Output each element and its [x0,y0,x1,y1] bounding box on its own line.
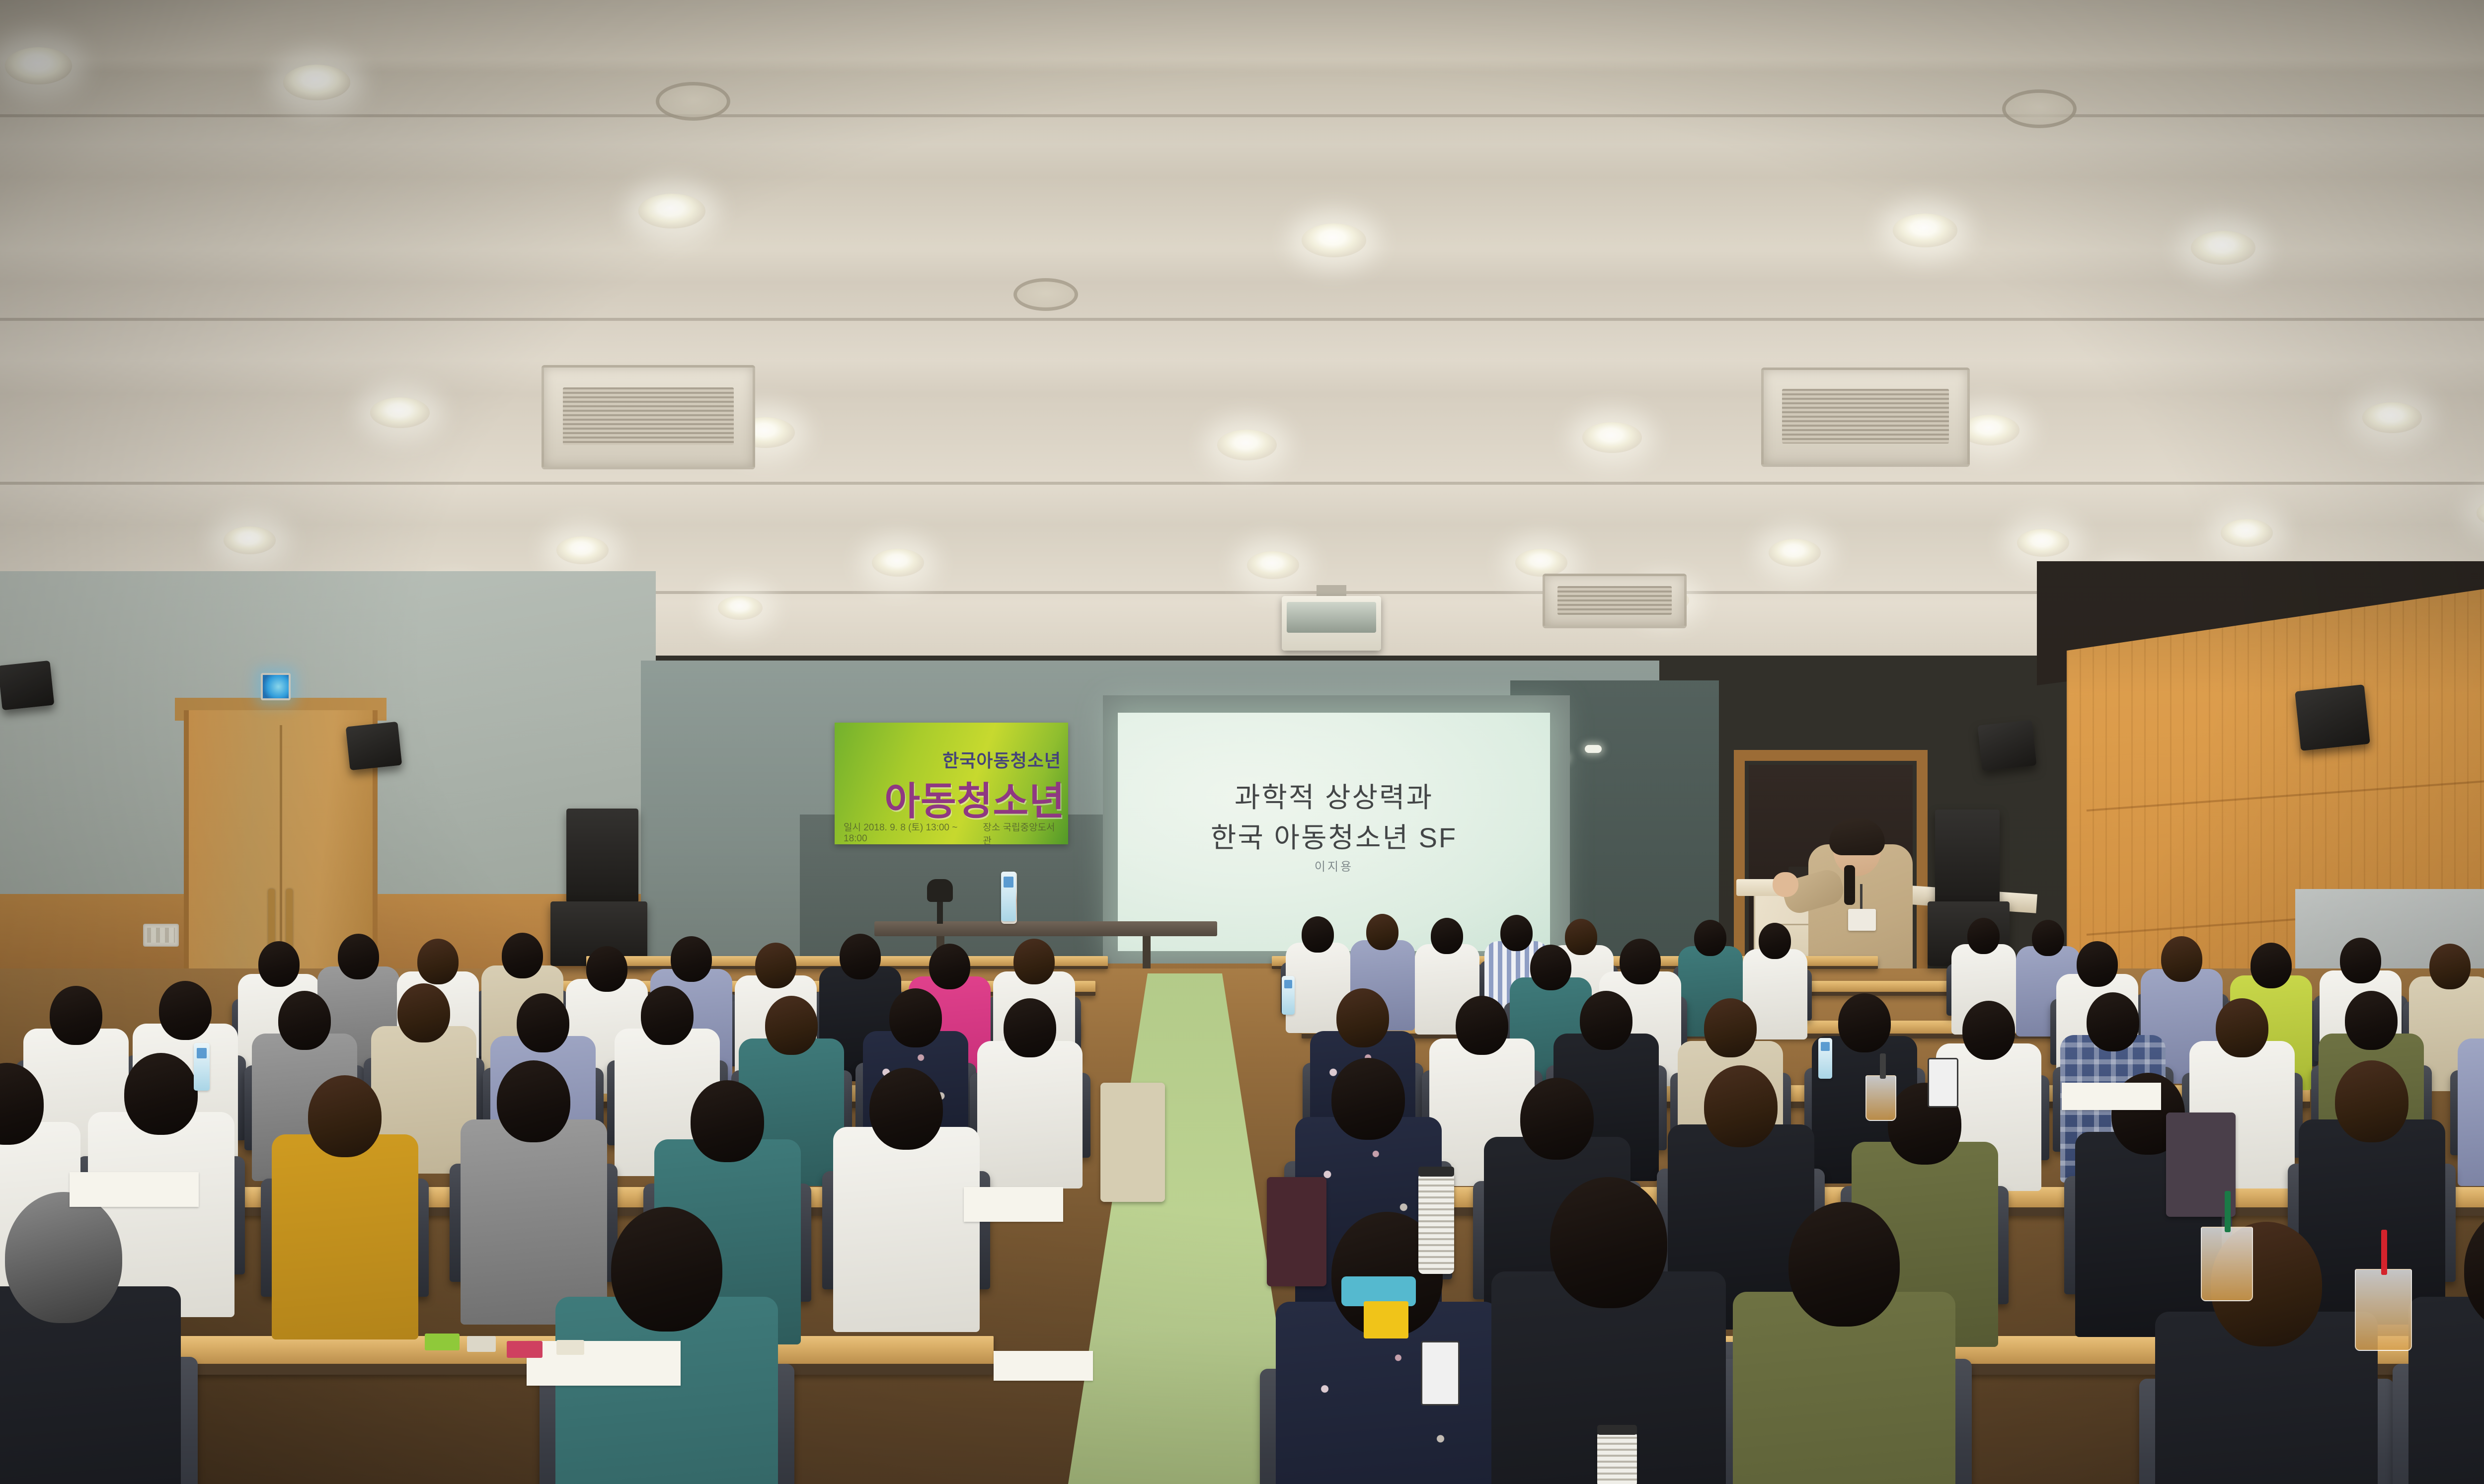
person-head [641,986,694,1045]
water-bottle [1818,1038,1832,1079]
ceiling-seam [0,482,2484,485]
paper-handout [964,1187,1063,1222]
event-banner: 한국아동청소년 아동청소년 일시 2018. 9. 8 (토) 13:00 ~ … [835,723,1068,844]
ceiling-seam [0,318,2484,321]
banner-footer-right: 장소 국립중앙도서관 [983,820,1063,844]
person-head [2087,992,2139,1051]
iced-drink-cup [2201,1227,2253,1301]
yellow-box [1364,1301,1408,1338]
ceiling-projector [1282,596,1381,651]
presenter-hair [1829,818,1885,855]
person-head [1302,916,1334,953]
person-torso [2458,1039,2484,1186]
person-head [2340,938,2381,983]
ceiling-downlight [1247,551,1299,579]
banner-footer-left: 일시 2018. 9. 8 (토) 13:00 ~ 18:00 [844,820,983,844]
presenter-lanyard [1860,884,1863,912]
person-head [869,1068,943,1150]
person-head [1694,920,1726,956]
ceiling-ring-fixture [2002,89,2077,128]
person-head [611,1207,722,1332]
stage-speaker [1935,810,2000,909]
ceiling [0,0,2484,656]
ac-vent [542,365,755,469]
ceiling-downlight [2017,529,2069,557]
person-head [1962,1001,2015,1060]
person-head [1013,939,1055,984]
ac-vent [1761,368,1970,467]
ceiling-downlight [224,526,276,554]
person-head [417,939,459,984]
person-head [671,936,712,982]
person-head [1366,914,1398,950]
person-head [1580,991,1632,1050]
ceiling-downlight [2191,231,2255,265]
person-head [2251,943,2292,988]
person-head [755,943,796,988]
person-head [1336,988,1389,1047]
person-head [840,934,881,979]
person-torso [833,1127,980,1332]
ceiling-downlight [1217,430,1277,460]
ceiling-downlight [1893,214,1957,247]
handbag [1100,1083,1165,1202]
person-head [1431,918,1463,954]
handbag [1267,1177,1326,1286]
person-head [2345,991,2398,1050]
paper-handout [70,1172,199,1207]
banner-small-text: 한국아동청소년 [835,746,1061,772]
person-head [517,993,569,1052]
person-head [1704,1065,1778,1147]
person-head [124,1053,198,1135]
wall-speaker [1977,720,2036,771]
person-head [2335,1060,2408,1142]
drink-straw [1880,1053,1886,1079]
ceiling-downlight [638,194,705,228]
person-head [765,996,818,1055]
wall-speaker [346,722,402,770]
person-head [929,944,970,989]
person-head [1704,998,1757,1057]
lecture-hall-photo: 과학적 상상력과 한국 아동청소년 SF 이지용 한국아동청소년 아동청소년 일… [0,0,2484,1484]
person-head [2077,941,2118,987]
iced-drink-cup [1865,1075,1896,1121]
person-head [1565,919,1597,955]
person-head [338,934,379,979]
person-head [586,946,627,992]
ceiling-ring-fixture [1013,278,1078,311]
water-bottle [194,1043,210,1091]
person-torso [272,1134,418,1339]
stage-table [874,921,1217,936]
person-head [1456,996,1508,1055]
person-head [889,988,942,1047]
person-head [397,983,450,1042]
paper-handout [2062,1083,2161,1110]
microphone-icon [927,879,953,902]
drink-straw [2225,1191,2231,1232]
thermos-bottle [1597,1433,1637,1484]
wall-speaker [0,661,54,710]
person-head [1620,939,1661,984]
person-head [159,981,212,1040]
banner-footer: 일시 2018. 9. 8 (토) 13:00 ~ 18:00 장소 국립중앙도… [844,820,1063,844]
smartphone [1928,1058,1958,1108]
person-torso [977,1041,1083,1188]
ceiling-downlight [556,536,609,564]
paper-handout [994,1351,1093,1381]
person-head [1520,1078,1594,1160]
ceiling-seam [0,114,2484,117]
projection-screen: 과학적 상상력과 한국 아동청소년 SF 이지용 [1118,713,1550,951]
ceiling-downlight [1515,549,1567,577]
drink-straw [2381,1230,2387,1275]
candy-wrapper [507,1341,543,1358]
ceiling-downlight [718,596,763,620]
ceiling-downlight [283,65,350,100]
ceiling-downlight [2221,519,2273,547]
person-head [1331,1058,1405,1140]
person-head [5,1192,122,1323]
presenter-hand [1773,872,1798,897]
slide-title: 과학적 상상력과 한국 아동청소년 SF [1118,777,1550,858]
slide-title-line2: 한국 아동청소년 SF [1118,817,1550,858]
ceiling-downlight [5,47,72,84]
person-torso [2408,1297,2484,1484]
person-head [1759,923,1791,959]
exit-indicator-icon [261,673,291,700]
person-head [1788,1202,1900,1327]
person-head [2429,944,2471,989]
person-head [2032,920,2064,956]
ceiling-downlight [2362,402,2422,433]
person-head [502,933,543,978]
stage-speaker [566,809,638,903]
person-head [1004,998,1056,1057]
water-bottle [1282,976,1295,1015]
person-head [278,991,331,1050]
thermos-bottle [1418,1175,1454,1274]
paper-handout [527,1341,681,1386]
person-head [258,941,300,987]
ceiling-downlight [1769,539,1821,567]
iced-drink-cup [2355,1269,2412,1351]
wall-speaker [2295,684,2370,751]
light-switch-plate[interactable] [143,924,179,947]
ceiling-ring-fixture [656,82,730,121]
slide-presenter-name: 이지용 [1118,857,1550,874]
person-head [497,1060,570,1142]
ceiling-downlight [1582,422,1642,453]
wall-mini-light [1585,745,1602,753]
ceiling-downlight [370,397,430,428]
presenter-microphone-icon [1844,865,1855,905]
person-head [1550,1177,1667,1308]
ceiling-downlight [872,549,924,577]
banner-large-text: 아동청소년 [835,770,1065,826]
person-head [308,1075,382,1157]
candy-wrapper [467,1336,496,1352]
candy-wrapper [556,1340,584,1355]
water-bottle [1001,872,1016,921]
person-torso [461,1119,607,1325]
ceiling-downlight [1302,223,1366,257]
ac-vent [1543,574,1687,628]
presenter-name-badge [1848,909,1876,931]
slide-title-line1: 과학적 상상력과 [1118,777,1550,817]
candy-wrapper [425,1334,460,1350]
person-head [1967,918,2000,954]
person-head [1530,945,1571,990]
smartphone [1421,1341,1460,1406]
person-head [50,986,102,1045]
person-head [691,1080,764,1162]
person-head [2216,998,2268,1057]
person-head [2161,936,2202,982]
person-head [1500,915,1533,951]
person-head [1838,993,1891,1052]
